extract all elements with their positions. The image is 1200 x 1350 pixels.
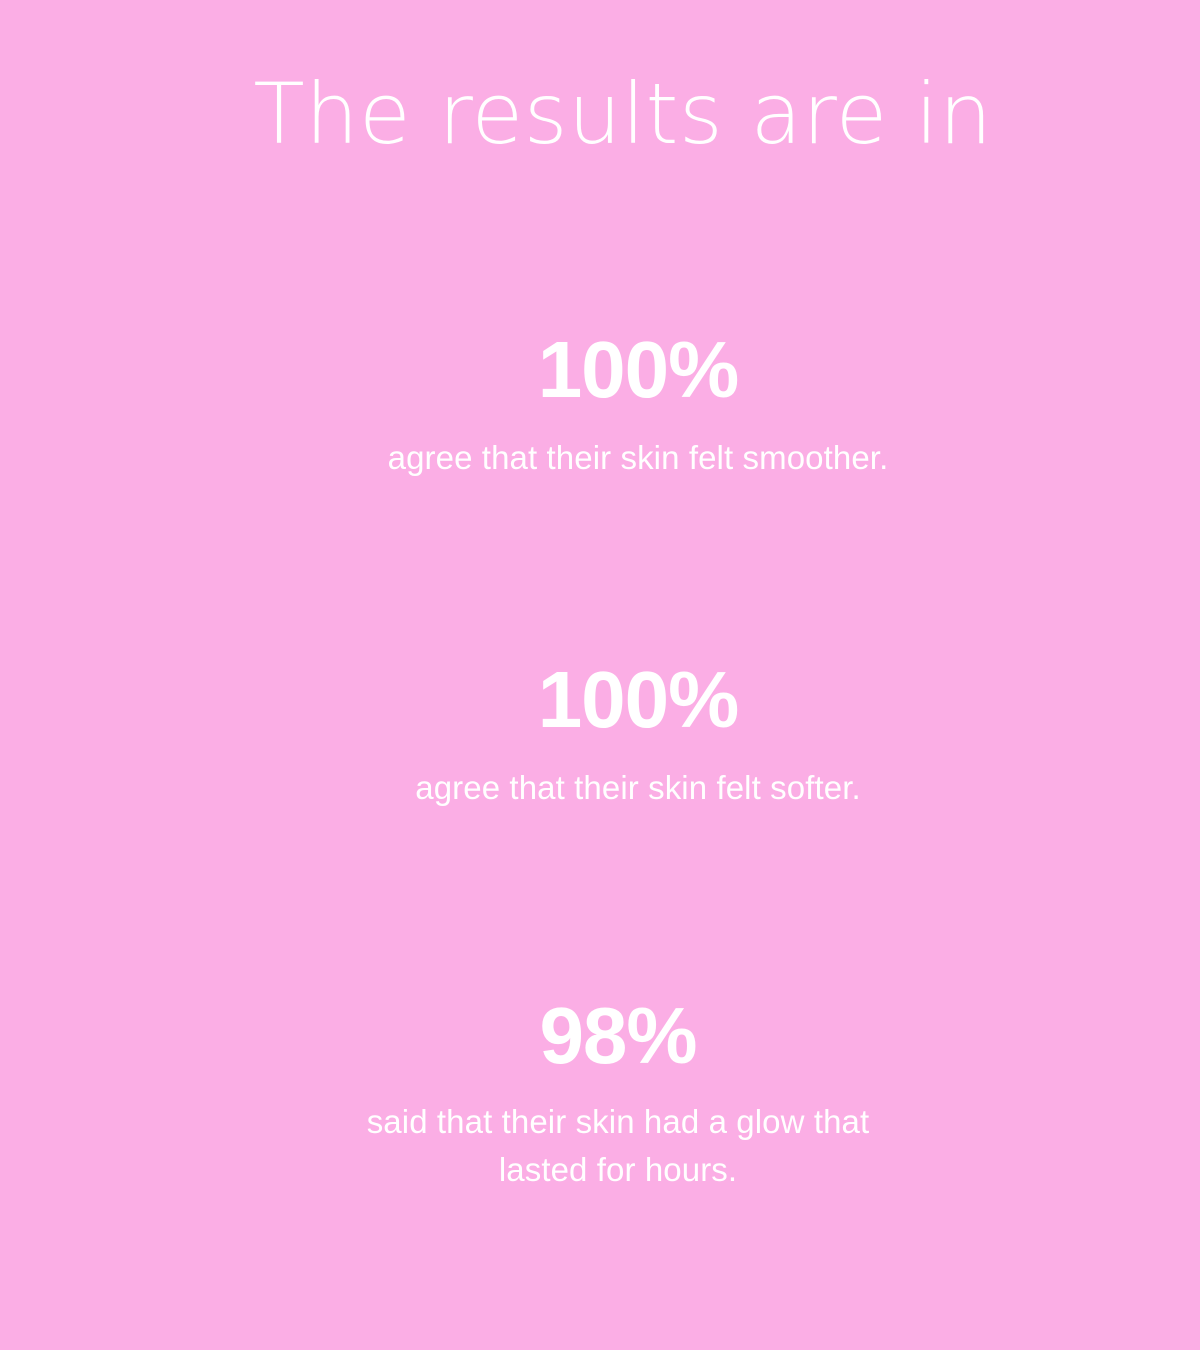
stat-caption: agree that their skin felt smoother. bbox=[76, 434, 1200, 482]
stat-caption-line: agree that their skin felt smoother. bbox=[76, 434, 1200, 482]
stat-caption-line: lasted for hours. bbox=[298, 1146, 938, 1194]
stat-caption-line: agree that their skin felt softer. bbox=[76, 764, 1200, 812]
stat-value: 98% bbox=[36, 996, 1200, 1076]
stat-value: 100% bbox=[76, 660, 1200, 740]
results-panel: The results are in 100% agree that their… bbox=[0, 0, 1200, 1350]
stats-list: 100% agree that their skin felt smoother… bbox=[0, 0, 1200, 1350]
stat-caption: agree that their skin felt softer. bbox=[76, 764, 1200, 812]
stat-caption-line: said that their skin had a glow that bbox=[298, 1098, 938, 1146]
stat-value: 100% bbox=[76, 330, 1200, 410]
stat-block: 100% agree that their skin felt smoother… bbox=[0, 330, 1200, 482]
stat-caption: said that their skin had a glow that las… bbox=[298, 1098, 938, 1194]
stat-block: 100% agree that their skin felt softer. bbox=[0, 660, 1200, 812]
stat-block: 98% said that their skin had a glow that… bbox=[0, 996, 1200, 1194]
